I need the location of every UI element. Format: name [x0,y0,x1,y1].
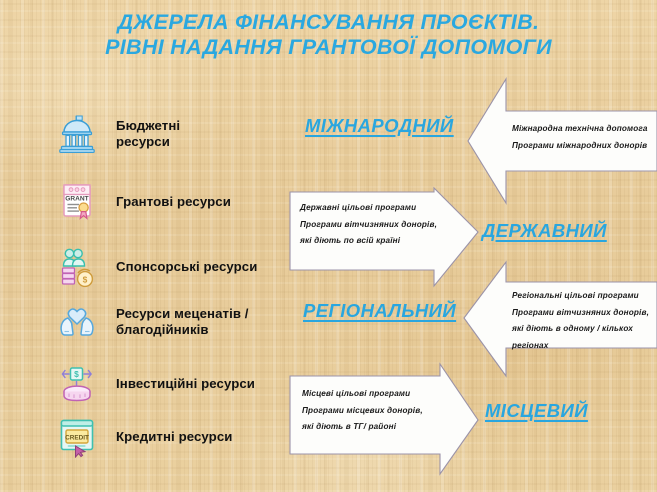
arrow-text: Державні цільові програми Програми вітчи… [300,200,440,250]
list-item-label: Грантові ресурси [116,194,231,210]
hands-heart-icon [55,300,99,344]
list-item-credit-resources[interactable]: CREDIT Кредитні ресурси [55,415,232,459]
arrow-state: Державні цільові програми Програми вітчи… [288,186,482,298]
arrow-regional: Регіональні цільові програми Програми ві… [456,258,657,382]
page-title: ДЖЕРЕЛА ФІНАНСУВАННЯ ПРОЄКТІВ. РІВНІ НАД… [0,10,657,60]
list-item-budget-resources[interactable]: Бюджетні ресурси [55,112,180,156]
sponsors-money-icon: $ [55,245,99,289]
list-item-label: Інвестиційні ресурси [116,376,255,392]
svg-text:GRANT: GRANT [65,195,88,202]
list-item-label: Бюджетні ресурси [116,118,180,150]
level-label-local[interactable]: МІСЦЕВИЙ [485,400,588,422]
level-label-regional[interactable]: РЕГІОНАЛЬНИЙ [303,300,456,322]
svg-text:CREDIT: CREDIT [65,434,89,441]
list-item-patron-resources[interactable]: Ресурси меценатів / благодійників [55,300,249,344]
arrow-text: Регіональні цільові програми Програми ві… [512,288,657,354]
arrow-local: Місцеві цільові програми Програми місцев… [288,362,482,480]
arrow-text: Місцеві цільові програми Програми місцев… [302,386,442,436]
list-item-label: Кредитні ресурси [116,429,232,445]
investment-coins-icon: $ [55,362,99,406]
list-item-investment-resources[interactable]: $ Інвестиційні ресурси [55,362,255,406]
arrow-text: Міжнародна технічна допомога Програми мі… [512,121,657,154]
list-item-sponsor-resources[interactable]: $ Спонсорські ресурси [55,245,257,289]
list-item-grant-resources[interactable]: GRANT Грантові ресурси [55,180,231,224]
level-label-state[interactable]: ДЕРЖАВНИЙ [482,220,607,242]
grant-certificate-icon: GRANT [55,180,99,224]
svg-text:$: $ [83,274,88,284]
svg-text:$: $ [74,369,79,379]
list-item-label: Ресурси меценатів / благодійників [116,306,249,338]
slide-canvas: ДЖЕРЕЛА ФІНАНСУВАННЯ ПРОЄКТІВ. РІВНІ НАД… [0,0,657,492]
level-label-international[interactable]: МІЖНАРОДНИЙ [305,115,454,137]
government-building-icon [55,112,99,156]
arrow-international: Міжнародна технічна допомога Програми мі… [462,76,657,206]
list-item-label: Спонсорські ресурси [116,259,257,275]
credit-card-icon: CREDIT [55,415,99,459]
